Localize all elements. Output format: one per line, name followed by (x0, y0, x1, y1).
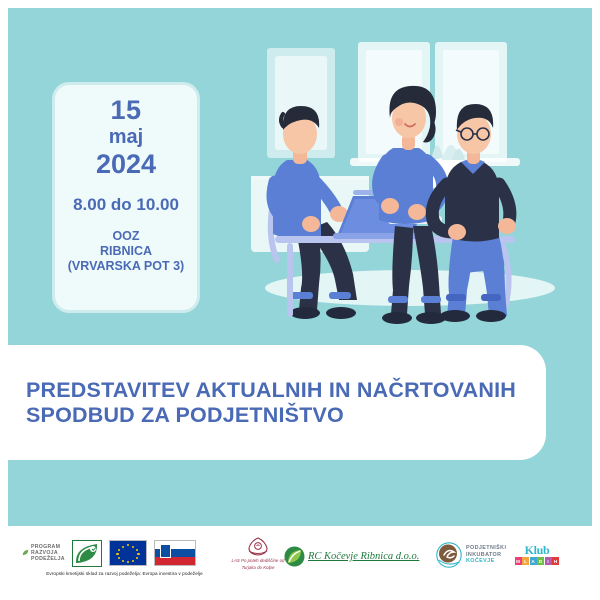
rc-kocevje-ribnica-logo: RC Kočevje Ribnica d.o.o. (284, 546, 419, 567)
venue-line-3: (VRVARSKA POT 3) (68, 259, 184, 274)
event-day: 15 (110, 95, 141, 125)
incubator-swirl-icon (436, 542, 462, 568)
illustration-meeting (245, 30, 575, 350)
mkgp-logo (72, 540, 102, 567)
klub-tiles: M L A D I H (514, 557, 560, 565)
klub-tile-4: I (545, 557, 552, 565)
poster-title-line-1: PREDSTAVITEV AKTUALNIH IN NAČRTOVANIH (26, 378, 516, 403)
title-band: PREDSTAVITEV AKTUALNIH IN NAČRTOVANIH SP… (8, 345, 546, 460)
incubator-line-1: PODJETNIŠKI (466, 545, 506, 552)
klub-tile-0: M (515, 557, 522, 565)
poster-root: 15 maj 2024 8.00 do 10.00 OOZ RIBNICA (V… (0, 0, 600, 600)
incubator-label: PODJETNIŠKI INKUBATOR KOČEVJE (466, 545, 506, 565)
rc-leaf-circle-icon (284, 546, 305, 567)
event-venue: OOZ RIBNICA (VRVARSKA POT 3) (68, 229, 184, 274)
event-month: maj (109, 125, 143, 149)
prp-line-1: PROGRAM (31, 544, 65, 550)
program-razvoja-podezelja-logo: PROGRAM RAZVOJA PODEŽELJA (22, 544, 65, 563)
poster-title-line-2: SPODBUD ZA PODJETNIŠTVO (26, 403, 516, 428)
venue-line-1: OOZ (68, 229, 184, 244)
poster-title: PREDSTAVITEV AKTUALNIH IN NAČRTOVANIH SP… (8, 378, 536, 428)
eafrd-caption: Evropski kmetijski sklad za razvoj podež… (22, 571, 227, 576)
eu-flag-icon (109, 540, 147, 566)
leaf-icon (22, 549, 29, 556)
event-time: 8.00 do 10.00 (73, 195, 179, 215)
rc-label: RC Kočevje Ribnica d.o.o. (308, 551, 419, 562)
venue-line-2: RIBNICA (68, 244, 184, 259)
klub-tile-2: A (530, 557, 537, 565)
klub-tile-5: H (552, 557, 559, 565)
las-emblem-icon (245, 537, 271, 557)
klub-tile-3: D (537, 557, 544, 565)
klub-logo: Klub M L A D I H (514, 544, 560, 565)
slovenia-flag-icon (154, 540, 196, 566)
klub-tile-1: L (522, 557, 529, 565)
prp-line-3: PODEŽELJA (31, 556, 65, 562)
mkgp-emblem-icon (73, 541, 101, 566)
prp-logo-group: PROGRAM RAZVOJA PODEŽELJA (22, 538, 232, 576)
klub-wordmark: Klub (514, 544, 560, 556)
event-info-card: 15 maj 2024 8.00 do 10.00 OOZ RIBNICA (V… (55, 85, 197, 310)
footer-logos: PROGRAM RAZVOJA PODEŽELJA (0, 526, 600, 600)
event-year: 2024 (96, 149, 156, 179)
podjetniski-inkubator-logo: PODJETNIŠKI INKUBATOR KOČEVJE (436, 542, 506, 568)
incubator-line-3: KOČEVJE (466, 558, 506, 565)
